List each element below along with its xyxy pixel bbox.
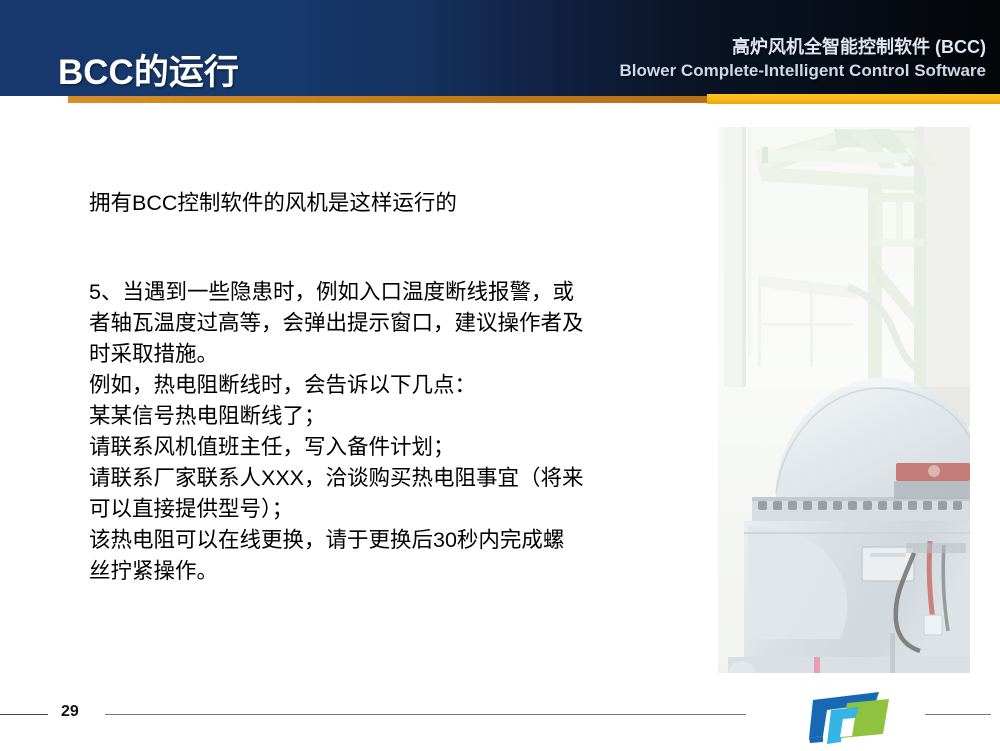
body-line: 可以直接提供型号）； (89, 494, 689, 525)
slide-header-banner: BCC的运行 高炉风机全智能控制软件 (BCC) Blower Complete… (0, 0, 1000, 96)
body-line: 时采取措施。 (89, 339, 689, 370)
body-line: 者轴瓦温度过高等，会弹出提示窗口，建议操作者及 (89, 308, 689, 339)
header-accent-bar-dark (68, 96, 708, 103)
slide-body: 拥有BCC控制软件的风机是这样运行的 5、当遇到一些隐患时，例如入口温度断线报警… (89, 188, 689, 587)
body-line: 丝拧紧操作。 (89, 556, 689, 587)
body-line: 请联系厂家联系人XXX，洽谈购买热电阻事宜（将来 (89, 463, 689, 494)
blower-machine-photo (718, 127, 970, 673)
body-line: 某某信号热电阻断线了； (89, 401, 689, 432)
body-lead-line: 拥有BCC控制软件的风机是这样运行的 (89, 188, 689, 219)
body-line: 5、当遇到一些隐患时，例如入口温度断线报警，或 (89, 277, 689, 308)
header-accent-bar-bright (707, 94, 1000, 104)
company-logo (797, 690, 897, 746)
footer-divider-left (0, 714, 48, 715)
body-line: 请联系风机值班主任，写入备件计划； (89, 432, 689, 463)
body-line: 该热电阻可以在线更换，请于更换后30秒内完成螺 (89, 525, 689, 556)
page-title: BCC的运行 (58, 44, 239, 95)
footer-divider-right (925, 714, 991, 715)
body-line: 例如，热电阻断线时，会告诉以下几点： (89, 370, 689, 401)
page-number: 29 (61, 703, 79, 721)
header-subtitle-chinese: 高炉风机全智能控制软件 (BCC) (732, 33, 986, 59)
header-subtitle-english: Blower Complete-Intelligent Control Soft… (620, 61, 986, 81)
footer-divider-main (105, 714, 746, 715)
photo-haze-overlay-top (718, 127, 970, 387)
body-paragraph: 5、当遇到一些隐患时，例如入口温度断线报警，或 者轴瓦温度过高等，会弹出提示窗口… (89, 277, 689, 587)
